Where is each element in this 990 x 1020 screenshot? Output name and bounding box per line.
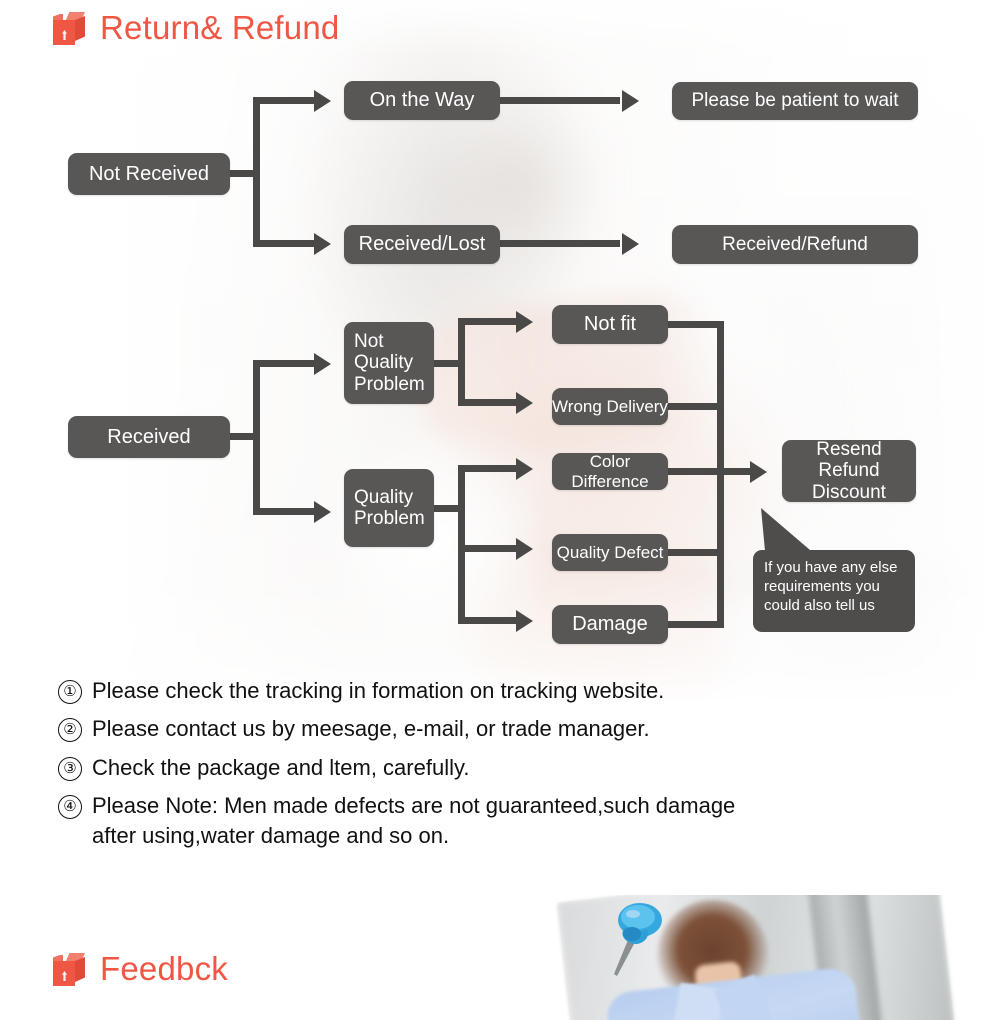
arrow-to-damage bbox=[516, 610, 533, 632]
flow-node-damage[interactable]: Damage bbox=[552, 605, 668, 644]
connector-not-fit-out bbox=[666, 321, 724, 328]
arrow-to-color-difference bbox=[516, 458, 533, 480]
note-number: ② bbox=[58, 718, 82, 742]
connector-nq-to-not-fit bbox=[458, 318, 520, 325]
note-text: Check the package and ltem, carefully. bbox=[92, 753, 958, 783]
connector-quality-defect-out bbox=[666, 549, 724, 556]
connector-nq-bus bbox=[458, 318, 465, 406]
flow-node-not-fit[interactable]: Not fit bbox=[552, 305, 668, 344]
note-number: ④ bbox=[58, 795, 82, 819]
flow-node-quality-defect[interactable]: Quality Defect bbox=[552, 534, 668, 571]
arrow-to-received-refund bbox=[622, 233, 639, 255]
connector-merge-to-resend bbox=[717, 468, 753, 475]
note-text: Please check the tracking in formation o… bbox=[92, 676, 958, 706]
note-number: ① bbox=[58, 680, 82, 704]
callout-text: If you have any else requirements you co… bbox=[764, 559, 897, 614]
feedback-title: Feedbck bbox=[100, 950, 228, 988]
connector-to-on-the-way bbox=[253, 97, 318, 104]
arrow-to-not-fit bbox=[516, 311, 533, 333]
flow-node-wrong-delivery[interactable]: Wrong Delivery bbox=[552, 388, 668, 425]
flow-node-received-lost[interactable]: Received/Lost bbox=[344, 225, 500, 264]
connector-received-bus bbox=[253, 360, 260, 515]
photo-collar-left bbox=[671, 983, 724, 1020]
connector-q-to-damage bbox=[458, 617, 520, 624]
arrow-to-not-quality-problem bbox=[314, 353, 331, 375]
arrow-to-please-wait bbox=[622, 90, 639, 112]
connector-q-to-color-difference bbox=[458, 465, 520, 472]
flow-node-quality-problem[interactable]: Quality Problem bbox=[344, 469, 434, 547]
return-refund-flowchart: Not Received On the Way Please be patien… bbox=[0, 0, 990, 690]
arrow-to-quality-problem bbox=[314, 501, 331, 523]
note-item: ③ Check the package and ltem, carefully. bbox=[58, 753, 958, 783]
connector-received-lost-to-refund bbox=[500, 240, 620, 247]
push-pin-icon bbox=[608, 900, 670, 978]
flow-node-resend-refund-discount[interactable]: Resend Refund Discount bbox=[782, 440, 916, 502]
flow-node-color-difference[interactable]: Color Difference bbox=[552, 453, 668, 490]
flow-node-please-be-patient-to-wait[interactable]: Please be patient to wait bbox=[672, 82, 918, 120]
note-number: ③ bbox=[58, 757, 82, 781]
connector-to-not-quality bbox=[253, 360, 318, 367]
flow-node-not-quality-problem[interactable]: Not Quality Problem bbox=[344, 322, 434, 404]
page-root: Return& Refund Not Received On the Way P… bbox=[0, 0, 990, 1020]
connector-on-the-way-to-wait bbox=[500, 97, 620, 104]
arrow-to-resend-refund-discount bbox=[750, 461, 767, 483]
connector-color-difference-out bbox=[666, 468, 724, 475]
note-item: ② Please contact us by meesage, e-mail, … bbox=[58, 714, 958, 744]
note-text-block: Please Note: Men made defects are not gu… bbox=[92, 791, 958, 852]
arrow-to-received-lost bbox=[314, 233, 331, 255]
package-box-icon bbox=[52, 951, 86, 987]
arrow-to-on-the-way bbox=[314, 90, 331, 112]
callout-tail bbox=[761, 506, 817, 556]
feedback-heading: Feedbck bbox=[52, 950, 228, 988]
note-item: ① Please check the tracking in formation… bbox=[58, 676, 958, 706]
flow-node-on-the-way[interactable]: On the Way bbox=[344, 81, 500, 120]
flow-node-received-refund[interactable]: Received/Refund bbox=[672, 225, 918, 264]
connector-damage-out bbox=[666, 621, 724, 628]
arrow-to-wrong-delivery bbox=[516, 392, 533, 414]
connector-to-quality bbox=[253, 508, 318, 515]
flow-callout-extra-requirements[interactable]: If you have any else requirements you co… bbox=[753, 550, 915, 632]
connector-wrong-delivery-out bbox=[666, 403, 724, 410]
flow-node-not-received[interactable]: Not Received bbox=[68, 153, 230, 195]
note-text-line2: after using,water damage and so on. bbox=[92, 821, 958, 851]
connector-nq-to-wrong-delivery bbox=[458, 399, 520, 406]
arrow-to-quality-defect bbox=[516, 538, 533, 560]
connector-to-received-lost bbox=[253, 240, 318, 247]
notes-list: ① Please check the tracking in formation… bbox=[58, 676, 958, 860]
note-text: Please contact us by meesage, e-mail, or… bbox=[92, 714, 958, 744]
connector-q-to-quality-defect bbox=[458, 545, 520, 552]
connector-q-bus bbox=[458, 465, 465, 620]
connector-not-received-bus bbox=[253, 97, 260, 247]
note-text: Please Note: Men made defects are not gu… bbox=[92, 793, 735, 818]
note-item: ④ Please Note: Men made defects are not … bbox=[58, 791, 958, 852]
flow-node-received[interactable]: Received bbox=[68, 416, 230, 458]
